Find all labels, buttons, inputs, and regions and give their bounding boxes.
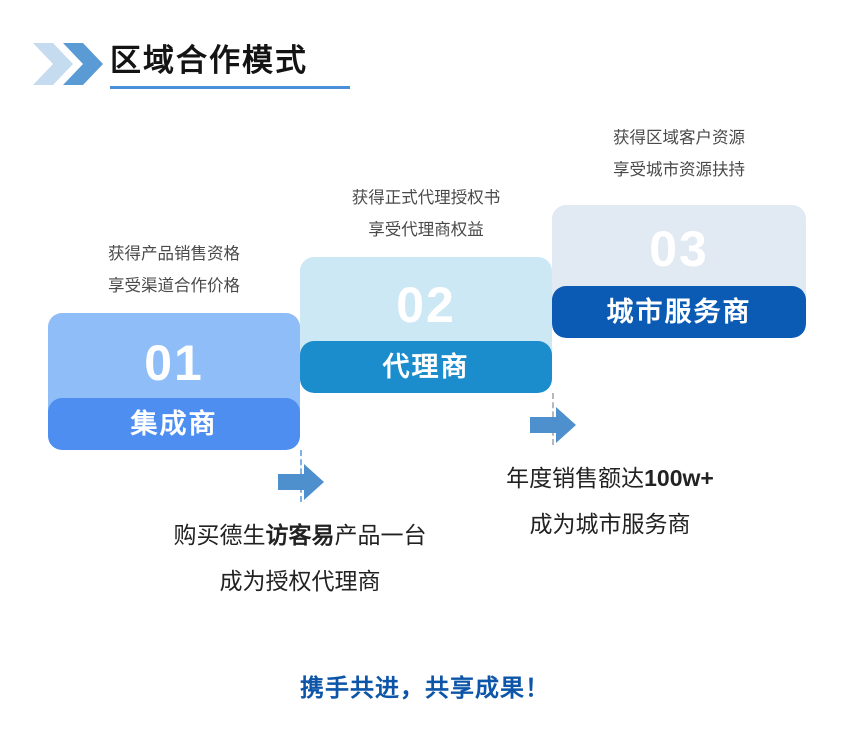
flow-note-2-line1: 年度销售额达100w+ [400,455,820,501]
flow-note-2-line1-bold: 100w+ [644,465,714,491]
step-label-02: 代理商 [300,341,552,393]
step-caption-03-line2: 享受城市资源扶持 [552,154,806,186]
flow-note-1-line1-bold: 访客易 [266,522,335,548]
flow-note-1-line2: 成为授权代理商 [80,558,520,604]
footer-slogan: 携手共进，共享成果！ [0,668,850,703]
flow-note-1-line1-prefix: 购买德生 [174,522,266,548]
step-label-01: 集成商 [48,398,300,450]
step-number-02: 02 [300,275,552,335]
step-caption-01-line2: 享受渠道合作价格 [48,270,300,302]
step-label-03: 城市服务商 [552,286,806,338]
step-caption-02-line2: 享受代理商权益 [300,214,552,246]
step-caption-03: 获得区域客户资源 享受城市资源扶持 [552,122,806,186]
arrow-right-icon-1 [278,462,324,502]
flow-note-2: 年度销售额达100w+ 成为城市服务商 [400,455,820,547]
partnership-tier-diagram: 获得产品销售资格 享受渠道合作价格 01 集成商 获得正式代理授权书 享受代理商… [0,0,850,737]
step-caption-02-line1: 获得正式代理授权书 [300,182,552,214]
step-card-03[interactable]: 03 城市服务商 [552,205,806,338]
step-number-01: 01 [48,333,300,393]
step-caption-03-line1: 获得区域客户资源 [552,122,806,154]
arrow-right-icon-2 [530,405,576,445]
step-number-03: 03 [552,219,806,279]
step-caption-01-line1: 获得产品销售资格 [48,238,300,270]
step-card-02[interactable]: 02 代理商 [300,257,552,393]
step-caption-01: 获得产品销售资格 享受渠道合作价格 [48,238,300,302]
step-caption-02: 获得正式代理授权书 享受代理商权益 [300,182,552,246]
flow-note-2-line2: 成为城市服务商 [400,501,820,547]
step-card-01[interactable]: 01 集成商 [48,313,300,450]
flow-note-2-line1-prefix: 年度销售额达 [506,465,644,491]
